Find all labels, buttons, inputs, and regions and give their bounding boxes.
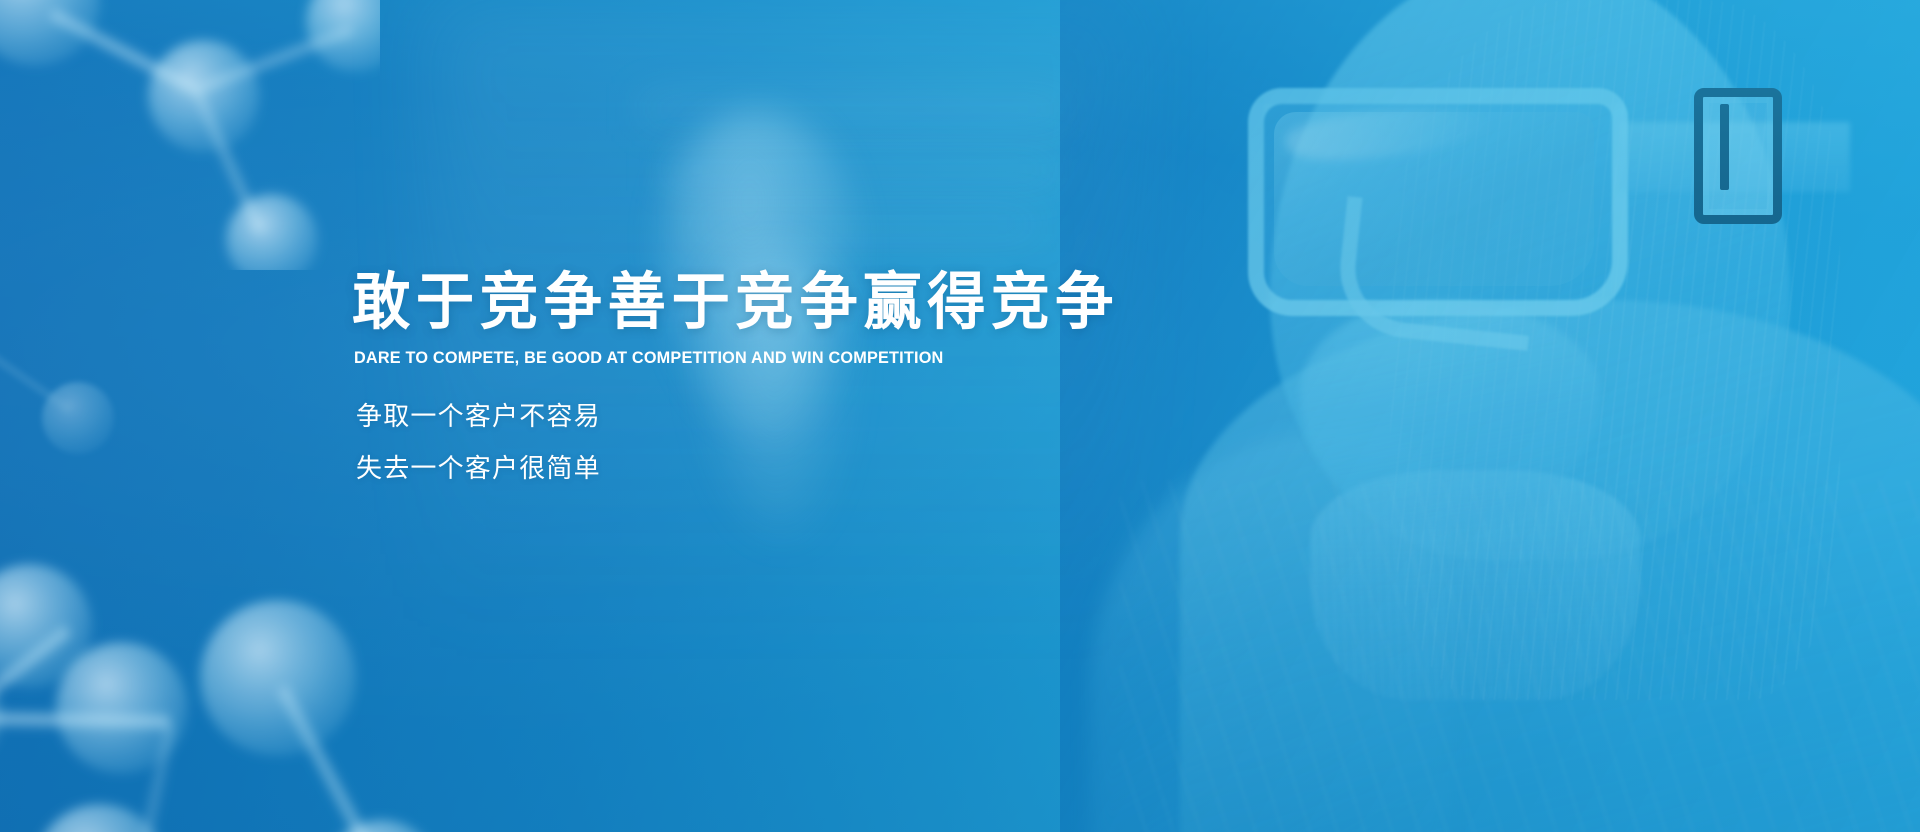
subtitle-english: DARE TO COMPETE, BE GOOD AT COMPETITION … [354,348,1239,368]
molecule-icon [0,540,450,832]
molecule-icon [0,0,380,270]
tagline-list: 争取一个客户不容易 失去一个客户很简单 [356,390,1252,494]
page-title: 敢于竞争善于竞争赢得竞争 [352,272,1198,334]
molecule-icon [0,250,180,510]
tagline-2: 失去一个客户很简单 [356,442,1252,494]
tagline-1: 争取一个客户不容易 [356,390,1252,442]
hero-banner: 敢于竞争善于竞争赢得竞争 DARE TO COMPETE, BE GOOD AT… [0,0,1920,832]
banner-copy: 敢于竞争善于竞争赢得竞争 DARE TO COMPETE, BE GOOD AT… [352,272,1252,494]
